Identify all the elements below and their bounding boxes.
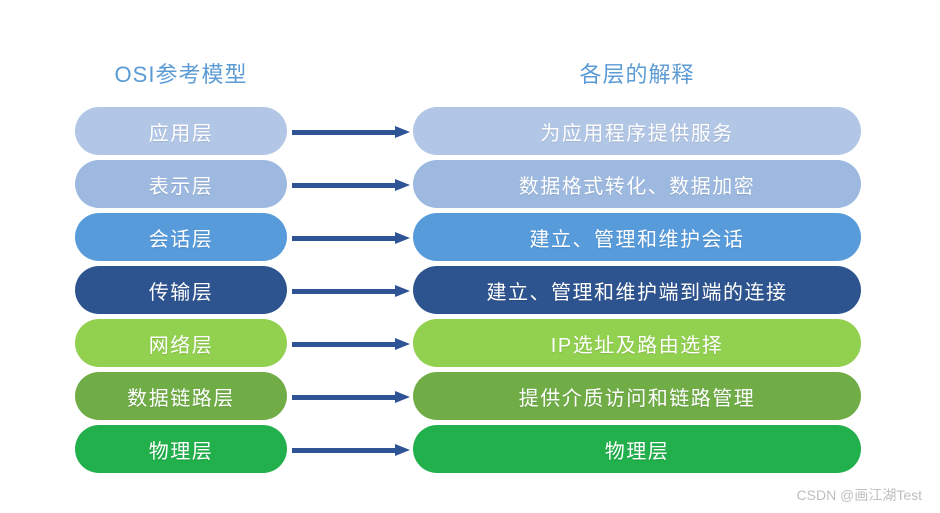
layer-description-pill[interactable]: 建立、管理和维护会话 (413, 213, 861, 261)
right-arrow-icon (292, 340, 410, 348)
layer-name-pill[interactable]: 应用层 (75, 107, 287, 155)
layer-description-pill[interactable]: 为应用程序提供服务 (413, 107, 861, 155)
arrow-shaft (292, 289, 396, 294)
arrow-shaft (292, 395, 396, 400)
left-column-heading: OSI参考模型 (75, 57, 287, 89)
arrow-shaft (292, 342, 396, 347)
osi-model-diagram: OSI参考模型 各层的解释 应用层为应用程序提供服务表示层数据格式转化、数据加密… (0, 0, 940, 513)
layer-description-pill[interactable]: 建立、管理和维护端到端的连接 (413, 266, 861, 314)
layer-description-pill[interactable]: 数据格式转化、数据加密 (413, 160, 861, 208)
layer-row: 数据链路层提供介质访问和链路管理 (0, 372, 940, 420)
layer-name-pill[interactable]: 会话层 (75, 213, 287, 261)
layer-row: 表示层数据格式转化、数据加密 (0, 160, 940, 208)
arrow-shaft (292, 236, 396, 241)
arrow-shaft (292, 130, 396, 135)
arrow-shaft (292, 183, 396, 188)
arrow-head (395, 126, 410, 138)
right-arrow-icon (292, 234, 410, 242)
arrow-head (395, 285, 410, 297)
watermark: CSDN @画江湖Test (797, 485, 922, 505)
layer-description-pill[interactable]: IP选址及路由选择 (413, 319, 861, 367)
arrow-head (395, 391, 410, 403)
layer-row: 物理层物理层 (0, 425, 940, 473)
layer-description-pill[interactable]: 物理层 (413, 425, 861, 473)
layer-row: 传输层建立、管理和维护端到端的连接 (0, 266, 940, 314)
arrow-head (395, 338, 410, 350)
right-column-heading: 各层的解释 (413, 57, 861, 89)
arrow-shaft (292, 448, 396, 453)
layer-name-pill[interactable]: 网络层 (75, 319, 287, 367)
layer-row: 会话层建立、管理和维护会话 (0, 213, 940, 261)
layer-row: 网络层IP选址及路由选择 (0, 319, 940, 367)
right-arrow-icon (292, 393, 410, 401)
arrow-head (395, 179, 410, 191)
right-arrow-icon (292, 287, 410, 295)
layer-name-pill[interactable]: 物理层 (75, 425, 287, 473)
layer-name-pill[interactable]: 表示层 (75, 160, 287, 208)
layer-name-pill[interactable]: 数据链路层 (75, 372, 287, 420)
arrow-head (395, 444, 410, 456)
layer-description-pill[interactable]: 提供介质访问和链路管理 (413, 372, 861, 420)
right-arrow-icon (292, 446, 410, 454)
right-arrow-icon (292, 128, 410, 136)
right-arrow-icon (292, 181, 410, 189)
arrow-head (395, 232, 410, 244)
layer-name-pill[interactable]: 传输层 (75, 266, 287, 314)
layer-row: 应用层为应用程序提供服务 (0, 107, 940, 155)
